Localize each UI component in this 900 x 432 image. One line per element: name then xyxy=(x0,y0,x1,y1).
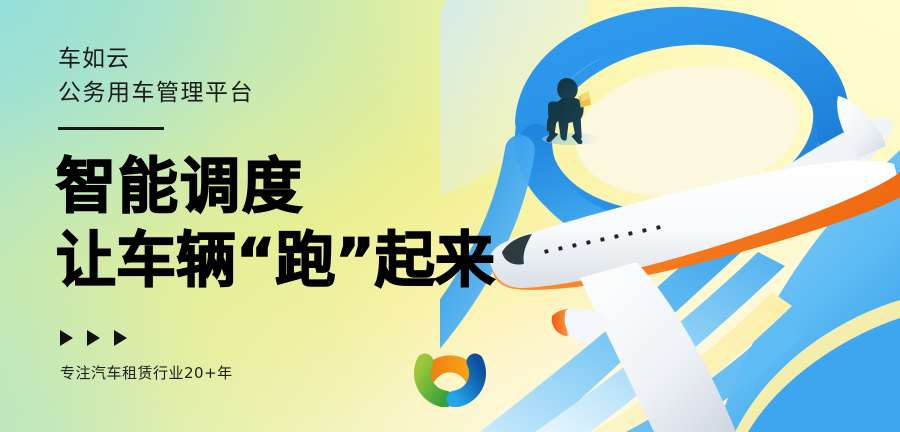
triangle-marker-icon xyxy=(60,330,73,346)
tagline: 专注汽车租赁行业20+年 xyxy=(60,362,233,383)
arrow-marker-group xyxy=(60,330,127,346)
triangle-marker-icon xyxy=(114,330,127,346)
headline-line-1: 智能调度 xyxy=(56,150,495,224)
brand-subtitle: 公务用车管理平台 xyxy=(58,76,254,110)
logo-arc-orange xyxy=(428,364,472,376)
cloud-tricolor-logo xyxy=(398,331,502,407)
triangle-marker-icon xyxy=(87,330,100,346)
headline-block: 智能调度 让车辆“跑”起来 xyxy=(56,150,495,298)
promo-banner: 车如云 公务用车管理平台 智能调度 让车辆“跑”起来 专注汽车租赁行业20+年 xyxy=(0,0,900,432)
brand-divider xyxy=(58,127,164,130)
brand-block: 车如云 公务用车管理平台 xyxy=(58,42,254,110)
brand-name: 车如云 xyxy=(58,42,254,76)
headline-line-2: 让车辆“跑”起来 xyxy=(56,224,495,298)
banner-content: 车如云 公务用车管理平台 智能调度 让车辆“跑”起来 专注汽车租赁行业20+年 xyxy=(58,0,618,432)
